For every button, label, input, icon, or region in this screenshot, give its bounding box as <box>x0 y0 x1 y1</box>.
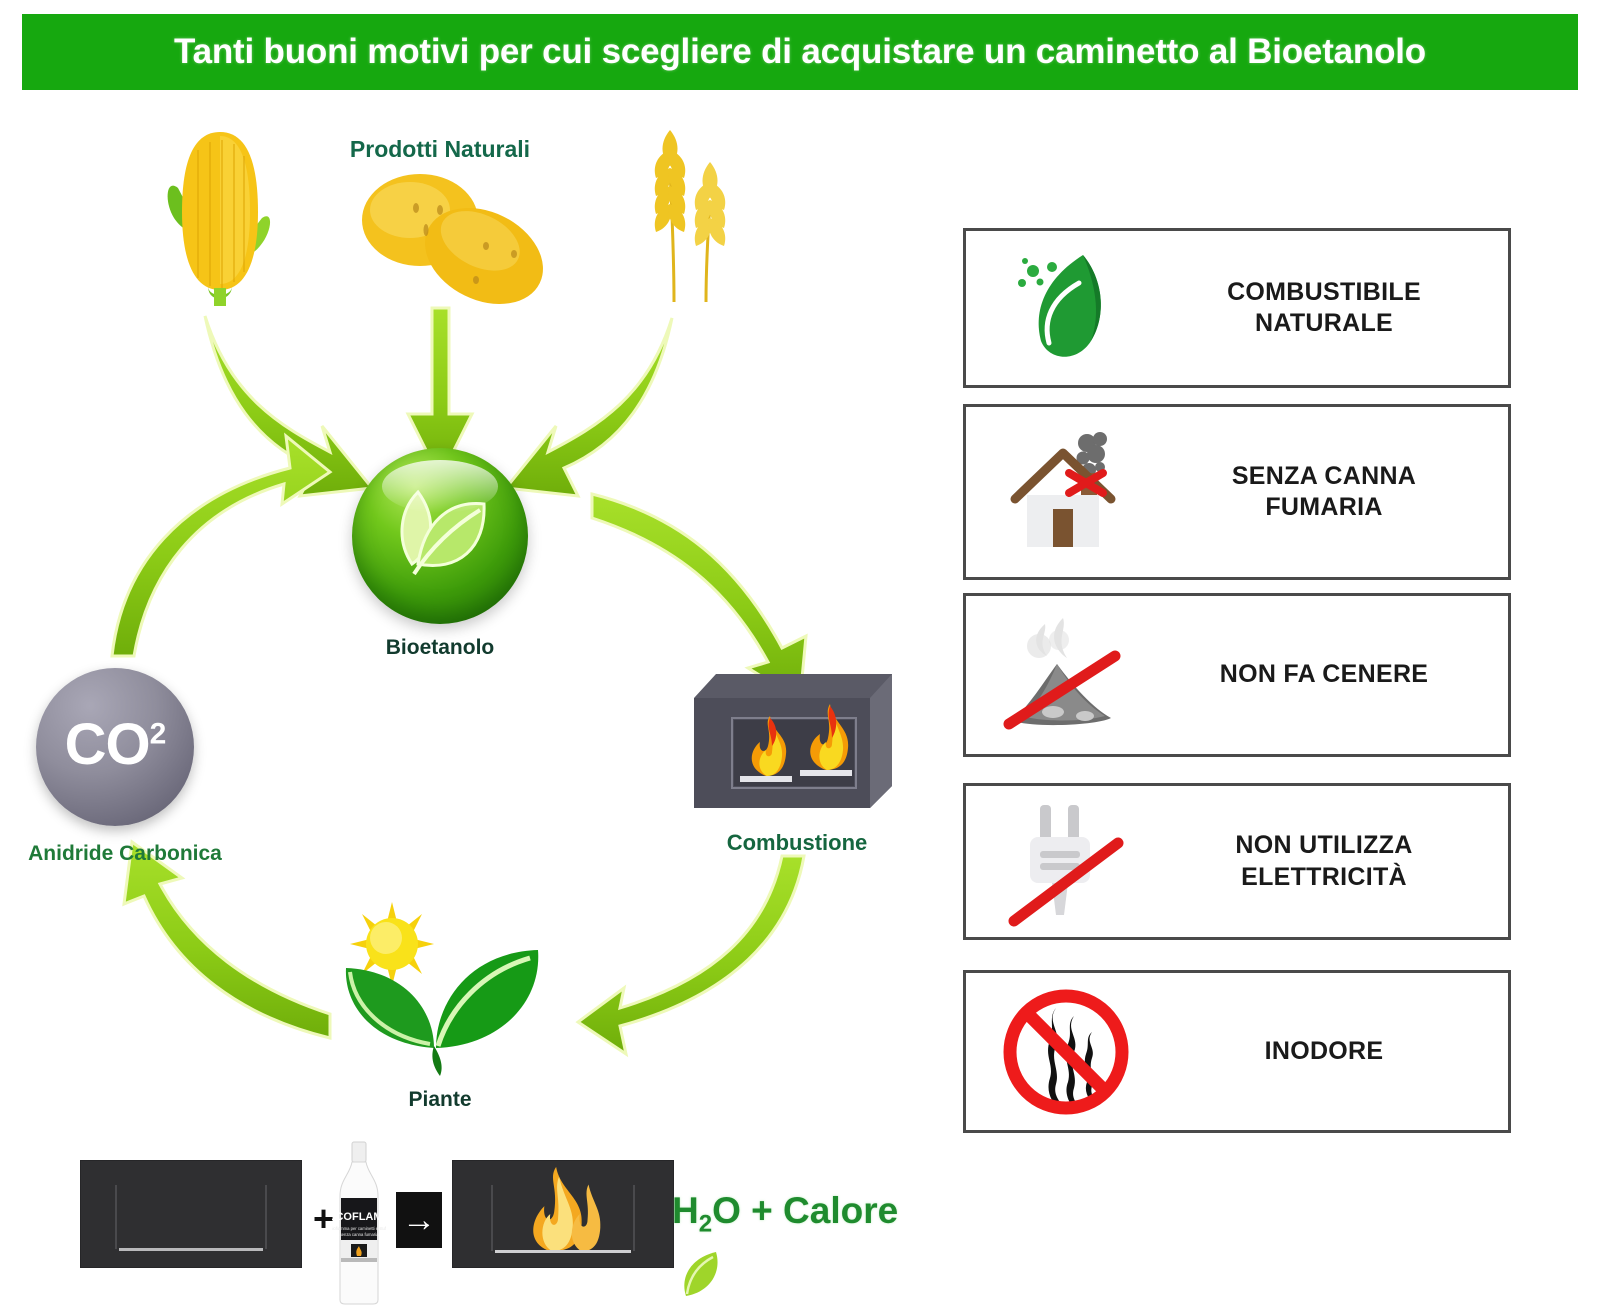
house-no-chimney-icon <box>966 407 1166 577</box>
process-arrow-icon: → <box>396 1192 442 1248</box>
co2-sphere-icon: CO2 <box>36 668 194 826</box>
label-combustione: Combustione <box>672 830 922 856</box>
leaf-natural-icon <box>966 231 1166 385</box>
page-title: Tanti buoni motivi per cui scegliere di … <box>174 32 1426 72</box>
wheat-icon <box>630 116 750 306</box>
feature-label: INODORE <box>1166 1036 1508 1067</box>
arrow-combustione-to-piante <box>578 856 804 1054</box>
feature-label: SENZA CANNA FUMARIA <box>1166 461 1508 524</box>
no-odor-icon <box>966 973 1166 1130</box>
no-electricity-icon <box>966 786 1166 937</box>
label-bioetanolo: Bioetanolo <box>330 636 550 660</box>
fireplace-unlit-opening <box>115 1185 267 1249</box>
corn-icon <box>160 126 280 306</box>
feature-label: NON UTILIZZA ELETTRICITÀ <box>1166 830 1508 893</box>
bottom-process-strip: + ECOFLAME Biofiamma per caminetti e stu… <box>60 1140 940 1305</box>
plus-symbol: + <box>313 1198 334 1240</box>
fireplace-unlit-burner <box>119 1248 263 1251</box>
header-banner: Tanti buoni motivi per cui scegliere di … <box>22 14 1578 90</box>
bioethanol-leaf-sphere-icon <box>352 448 528 624</box>
label-prodotti-naturali: Prodotti Naturali <box>300 136 580 163</box>
arrow-co2-to-bioetanolo <box>112 436 330 656</box>
label-piante: Piante <box>330 1088 550 1112</box>
potatoes-icon <box>348 168 558 308</box>
fireplace-burning-icon <box>688 658 896 828</box>
feature-label: COMBUSTIBILE NATURALE <box>1166 277 1508 340</box>
label-anidride-carbonica: Anidride Carbonica <box>0 842 250 866</box>
feature-box-inodore[interactable]: INODORE <box>963 970 1511 1133</box>
arrow-wheat-to-center <box>506 318 672 496</box>
small-leaf-icon <box>680 1248 722 1300</box>
ecoflame-bottle-icon: ECOFLAME Biofiamma per caminetti e stufe… <box>332 1140 386 1305</box>
svg-text:senza canna fumaria: senza canna fumaria <box>340 1232 380 1237</box>
feature-box-combustibile-naturale[interactable]: COMBUSTIBILE NATURALE <box>963 228 1511 388</box>
feature-label: NON FA CENERE <box>1166 659 1508 690</box>
fireplace-lit-burner <box>495 1250 631 1253</box>
svg-text:Biofiamma per caminetti e stuf: Biofiamma per caminetti e stufe <box>332 1226 386 1231</box>
co2-formula: CO2 <box>65 716 166 774</box>
fireplace-unlit-icon <box>80 1160 302 1268</box>
feature-box-non-utilizza-elettricita[interactable]: NON UTILIZZA ELETTRICITÀ <box>963 783 1511 940</box>
result-formula: H2O + Calore <box>672 1190 898 1238</box>
infographic-page: Tanti buoni motivi per cui scegliere di … <box>0 0 1600 1313</box>
bioethanol-cycle-diagram: Bioetanolo Prodotti Naturali CO2 Anidrid… <box>0 96 950 1136</box>
no-ash-icon <box>966 596 1166 754</box>
svg-text:ECOFLAME: ECOFLAME <box>332 1211 386 1223</box>
fireplace-lit-icon <box>452 1160 674 1268</box>
arrow-piante-to-co2 <box>124 842 330 1038</box>
feature-box-senza-canna-fumaria[interactable]: SENZA CANNA FUMARIA <box>963 404 1511 580</box>
plants-sun-icon <box>330 896 560 1086</box>
feature-box-non-fa-cenere[interactable]: NON FA CENERE <box>963 593 1511 757</box>
